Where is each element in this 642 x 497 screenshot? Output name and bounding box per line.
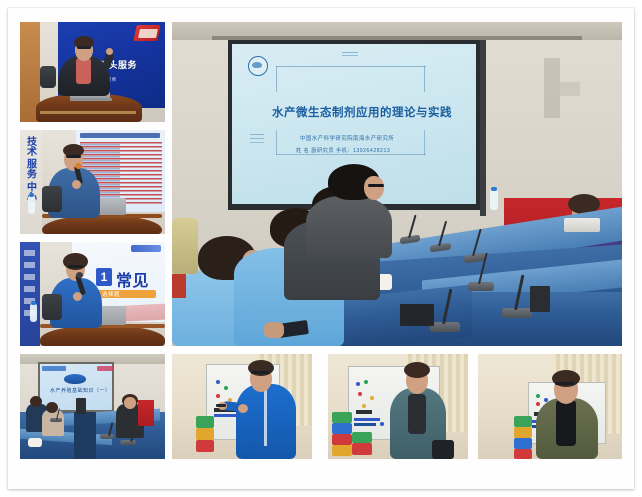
panel-female-presenter[interactable]: 1 常见 选择题 — [20, 242, 165, 346]
panel-lecturer-microphone[interactable]: 技术 服务 中心 — [20, 130, 165, 234]
main-slide-presenter: 姓 名 副研究员 手机：13926428213 — [296, 147, 390, 154]
panel-room-wide[interactable]: 水产养殖基础知识（一） — [20, 354, 165, 459]
main-slide-org: 中国水产科学研究院南海水产研究所 — [300, 134, 394, 142]
laser-pointer — [216, 404, 226, 407]
wide-screen-emblem — [64, 374, 86, 384]
panel-trainee-teal-jacket[interactable] — [328, 354, 468, 459]
panel-trainer-blue-jacket[interactable] — [172, 354, 312, 459]
wide-slide-title: 水产养殖基础知识（一） — [50, 387, 111, 394]
panel-lecturer-podium[interactable]: 粤海塘头服务 粤海 工程师 — [20, 22, 165, 122]
attendee-fourth — [306, 196, 392, 258]
collage-mount: 粤海塘头服务 粤海 工程师 — [8, 8, 634, 489]
panel-trainee-olive-jacket[interactable] — [478, 354, 622, 459]
slide-sub-badge-text: 选择题 — [102, 290, 120, 298]
table-device-box — [400, 304, 434, 326]
photo-collage: 粤海塘头服务 粤海 工程师 — [0, 0, 642, 497]
main-slide-title: 水产微生态制剂应用的理论与实践 — [272, 104, 452, 120]
panel-main-conference[interactable]: 水产微生态制剂应用的理论与实践 中国水产科学研究院南海水产研究所 姓 名 副研究… — [172, 22, 622, 346]
projector-device — [564, 218, 600, 232]
slide-number-badge: 1 — [96, 268, 112, 286]
slide-heading-common: 常见 — [116, 267, 149, 291]
